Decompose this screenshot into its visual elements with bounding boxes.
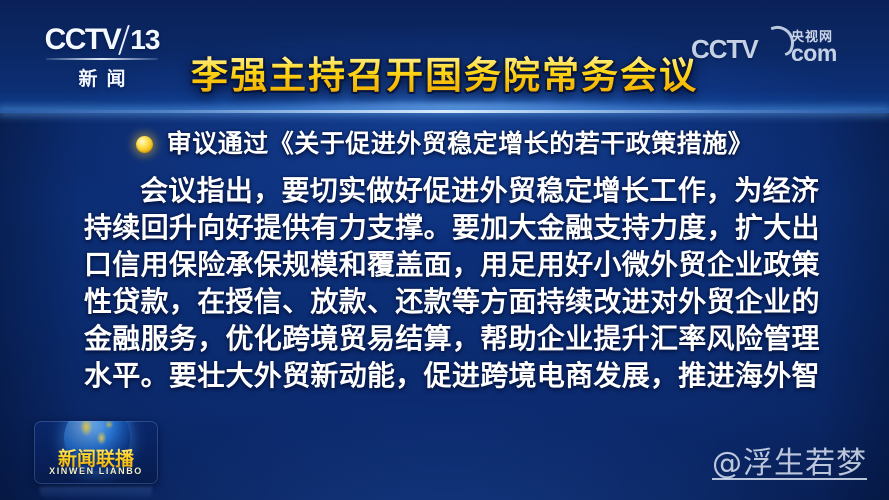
subtitle-text: 审议通过《关于促进外贸稳定增长的若干政策措施》	[167, 128, 754, 160]
gold-dot-icon	[136, 136, 153, 153]
xinwen-lianbo-logo: 新闻联播 XINWEN LIANBO	[34, 421, 158, 484]
body-paragraph: 会议指出，要切实做好促进外贸稳定增长工作，为经济 持续回升向好提供有力支撑。要加…	[84, 172, 806, 394]
header-divider	[0, 110, 889, 113]
cctv13-logo-row: CCTV 13	[38, 23, 166, 56]
program-name-en: XINWEN LIANBO	[34, 466, 158, 476]
body-line: 会议指出，要切实做好促进外贸稳定增长工作，为经济	[84, 172, 806, 209]
subtitle-row: 审议通过《关于促进外贸稳定增长的若干政策措施》	[0, 128, 889, 160]
cctv13-number: 13	[130, 24, 159, 56]
body-line: 口信用保险承保规模和覆盖面，用足用好小微外贸企业政策	[84, 246, 806, 283]
body-line: 持续回升向好提供有力支撑。要加大金融支持力度，扩大出	[84, 209, 806, 246]
body-line: 水平。要壮大外贸新动能，促进跨境电商发展，推进海外智	[84, 357, 806, 394]
body-line: 金融服务，优化跨境贸易结算，帮助企业提升汇率风险管理	[84, 320, 806, 357]
program-logo-reflection	[40, 486, 152, 498]
broadcast-screen: CCTV 13 新闻 CCTV 央视网 com 李强主持召开国务院常务会议 审议…	[0, 0, 889, 500]
body-line: 性贷款，在授信、放款、还款等方面持续改进对外贸企业的	[84, 283, 806, 320]
user-watermark: @浮生若梦	[712, 438, 867, 482]
headline-title: 李强主持召开国务院常务会议	[0, 54, 889, 98]
cctv-wordmark: CCTV	[45, 25, 121, 55]
